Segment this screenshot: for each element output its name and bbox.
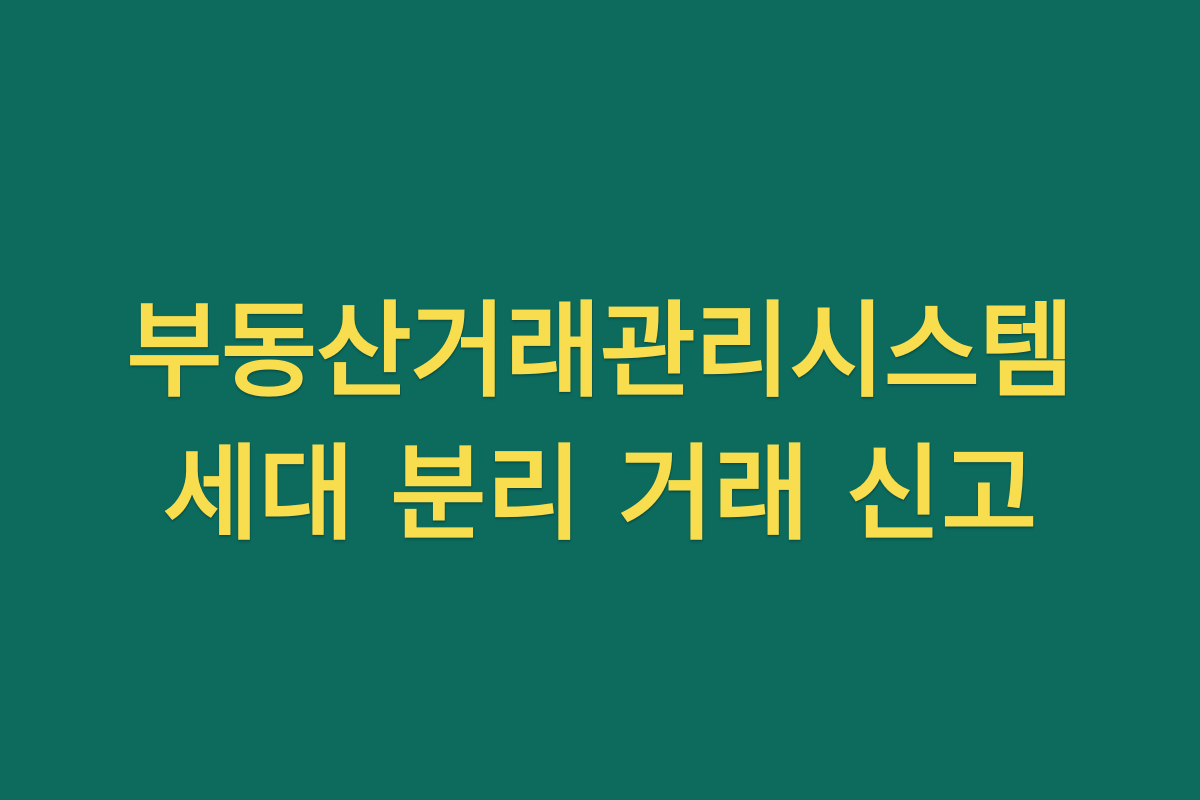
title-line-secondary: 세대 분리 거래 신고 — [0, 425, 1200, 564]
title-block: 부동산거래관리시스템 세대 분리 거래 신고 — [0, 282, 1200, 565]
title-line-primary: 부동산거래관리시스템 — [0, 282, 1200, 421]
title-banner: 부동산거래관리시스템 세대 분리 거래 신고 — [0, 0, 1200, 800]
